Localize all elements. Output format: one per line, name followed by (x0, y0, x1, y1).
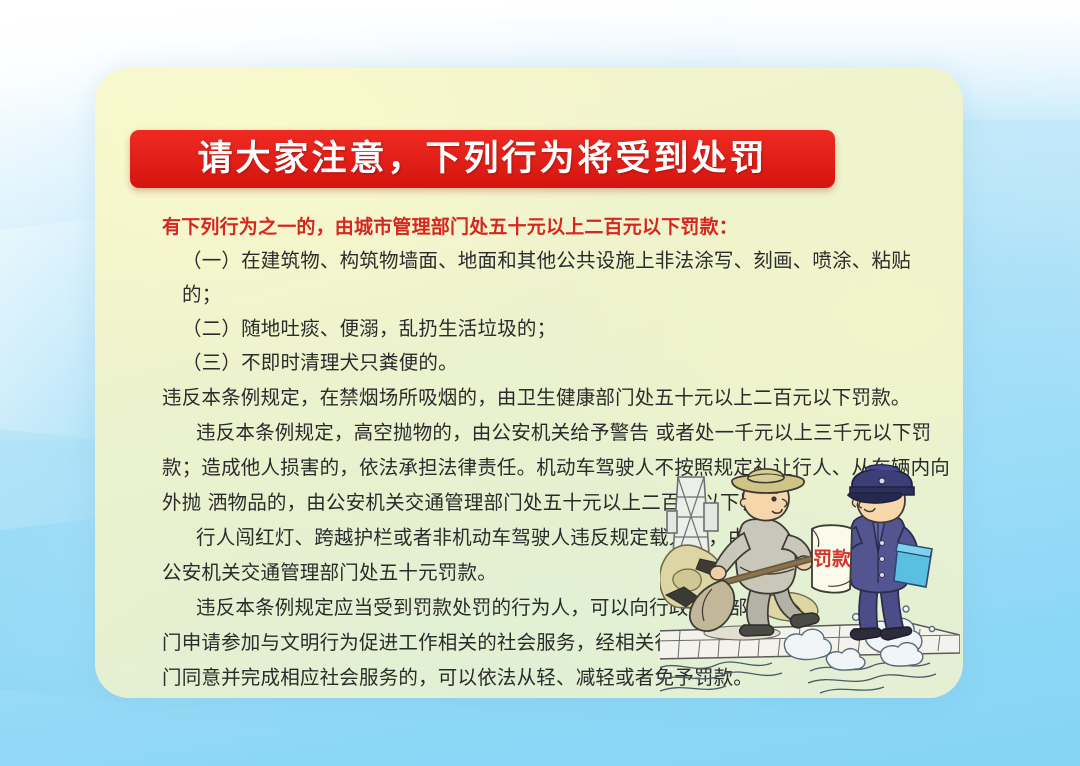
enumerated-item-2: （二）随地吐痰、便溺，乱扔生活垃圾的； (182, 312, 930, 346)
lead-paragraph: 有下列行为之一的，由城市管理部门处五十元以上二百元以下罚款： (162, 210, 930, 244)
enumerated-item-1: （一）在建筑物、构筑物墙面、地面和其他公共设施上非法涂写、刻画、喷涂、粘贴的； (182, 244, 930, 312)
page-title: 请大家注意，下列行为将受到处罚 (197, 142, 767, 177)
content-card: 请大家注意，下列行为将受到处罚 有下列行为之一的，由城市管理部门处五十元以上二百… (95, 68, 963, 698)
poster-root: 请大家注意，下列行为将受到处罚 有下列行为之一的，由城市管理部门处五十元以上二百… (0, 0, 1080, 766)
illustration-scene: 罚款 (660, 463, 960, 695)
title-banner: 请大家注意，下列行为将受到处罚 (130, 130, 835, 188)
penalty-notice-paper: 罚款 (812, 525, 852, 592)
penalty-notice-label: 罚款 (813, 547, 852, 570)
enumerated-item-3: （三）不即时清理犬只粪便的。 (182, 346, 930, 380)
paragraph-smoking: 违反本条例规定，在禁烟场所吸烟的，由卫生健康部门处五十元以上二百元以下罚款。 (162, 380, 952, 415)
scaffold-structure (667, 477, 718, 555)
